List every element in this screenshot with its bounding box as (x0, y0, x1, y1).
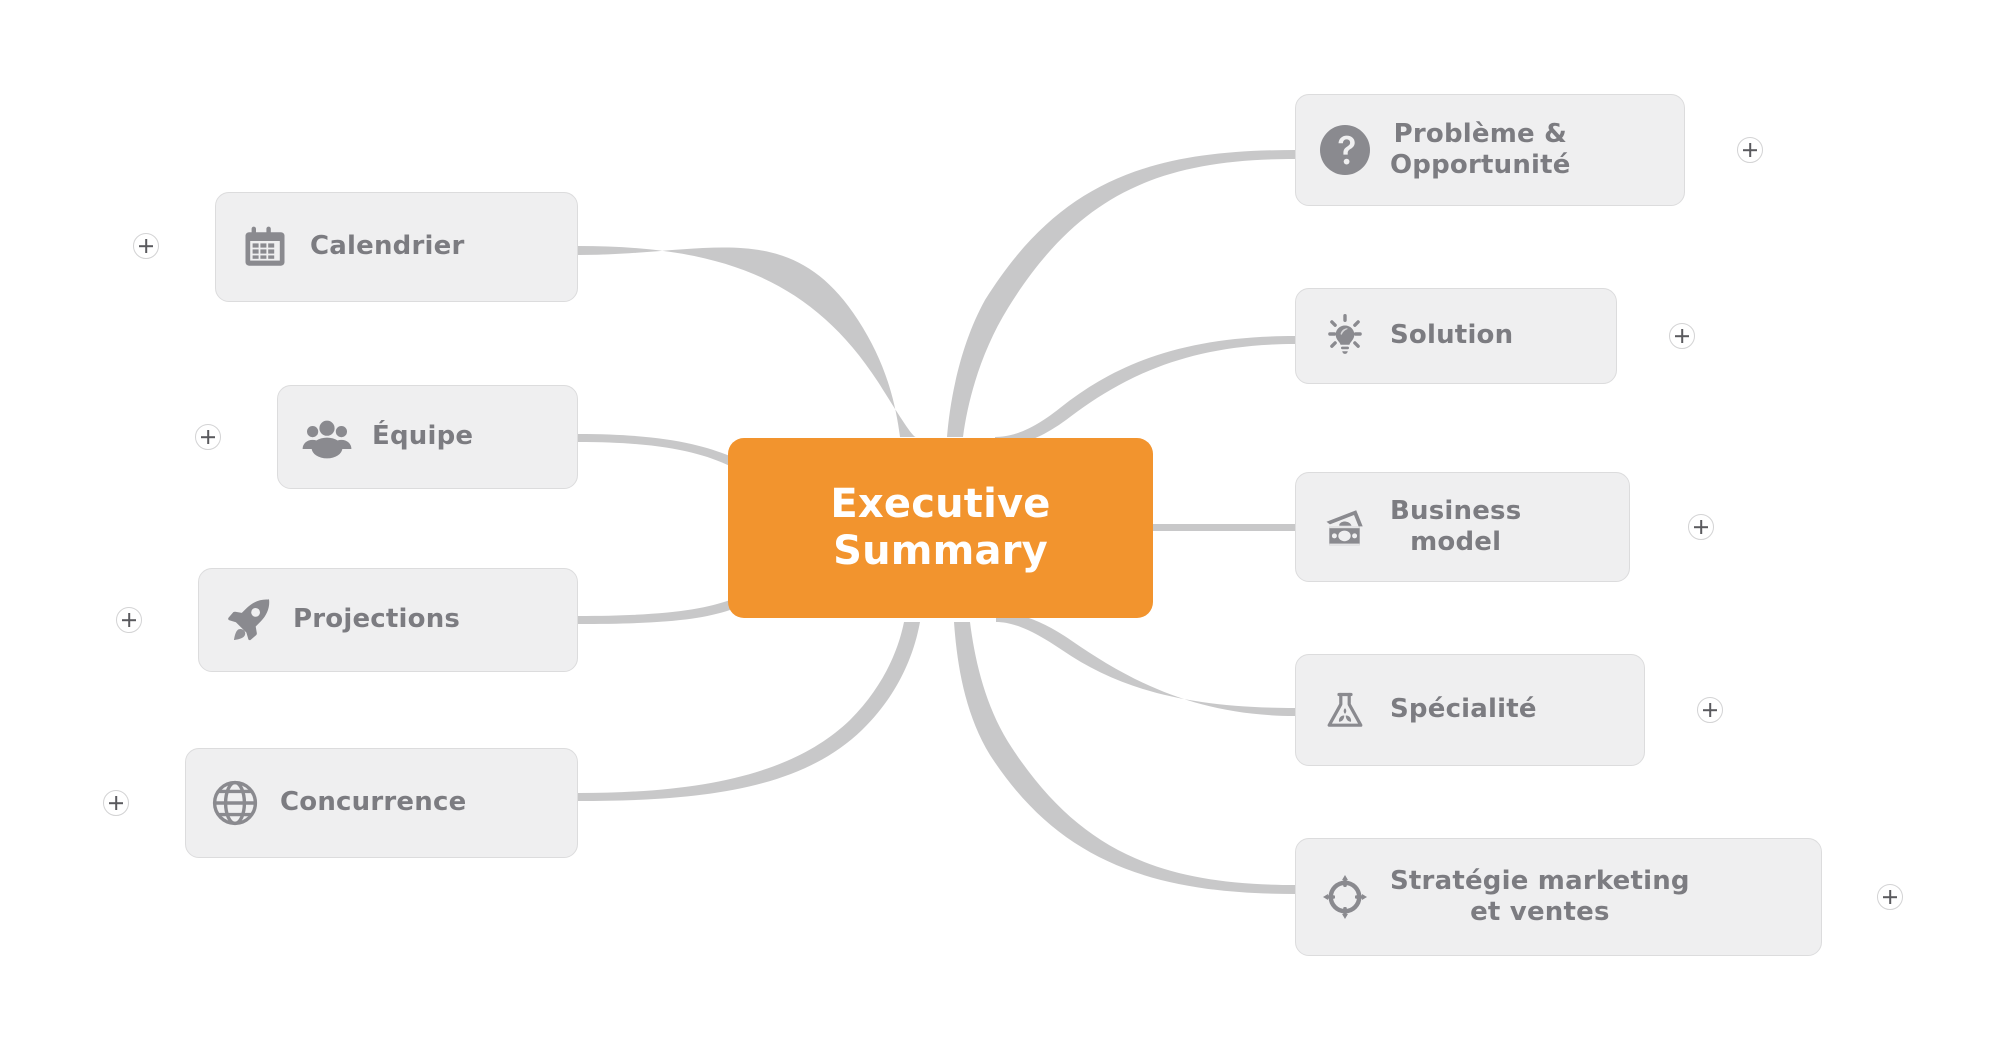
edge-concurrence (578, 622, 920, 801)
edge-specialite (996, 612, 1295, 716)
node-projections[interactable]: Projections (198, 568, 578, 672)
edge-calendrier (578, 246, 916, 437)
node-business-model-label: Business model (1390, 496, 1521, 558)
node-concurrence[interactable]: Concurrence (185, 748, 578, 858)
node-specialite-label: Spécialité (1390, 694, 1537, 725)
node-probleme-opportunite[interactable]: Problème & Opportunité (1295, 94, 1685, 206)
node-equipe[interactable]: Équipe (277, 385, 578, 489)
node-solution[interactable]: Solution (1295, 288, 1617, 384)
globe-icon (206, 774, 264, 832)
edge-projections (578, 600, 730, 624)
expander-business-model[interactable] (1688, 514, 1714, 540)
node-strategie-marketing[interactable]: Stratégie marketing et ventes (1295, 838, 1822, 956)
expander-calendrier[interactable] (133, 233, 159, 259)
node-strategie-marketing-label: Stratégie marketing et ventes (1390, 866, 1690, 928)
calendar-icon (236, 218, 294, 276)
expander-specialite[interactable] (1697, 697, 1723, 723)
node-calendrier[interactable]: Calendrier (215, 192, 578, 302)
node-business-model[interactable]: Business model (1295, 472, 1630, 582)
edge-strategie (954, 622, 1295, 894)
expander-probleme-opportunite[interactable] (1737, 137, 1763, 163)
edge-equipe (578, 434, 730, 466)
node-calendrier-label: Calendrier (310, 231, 464, 262)
rocket-icon (219, 591, 277, 649)
expander-concurrence[interactable] (103, 790, 129, 816)
central-node[interactable]: Executive Summary (728, 438, 1153, 618)
node-equipe-label: Équipe (372, 421, 473, 452)
edge-probleme (947, 150, 1295, 437)
banknotes-icon (1316, 498, 1374, 556)
lightbulb-icon (1316, 307, 1374, 365)
node-solution-label: Solution (1390, 320, 1513, 351)
mindmap-canvas: Executive Summary Problème & Opportunité (0, 0, 2000, 1051)
central-node-label: Executive Summary (830, 481, 1050, 575)
people-group-icon (298, 408, 356, 466)
node-probleme-opportunite-label: Problème & Opportunité (1390, 119, 1571, 181)
expander-projections[interactable] (116, 607, 142, 633)
question-mark-circle-icon (1316, 121, 1374, 179)
node-concurrence-label: Concurrence (280, 787, 466, 818)
expander-equipe[interactable] (195, 424, 221, 450)
edge-solution (995, 336, 1295, 447)
expander-strategie-marketing[interactable] (1877, 884, 1903, 910)
node-projections-label: Projections (293, 604, 460, 635)
flask-leaf-icon (1316, 681, 1374, 739)
expander-solution[interactable] (1669, 323, 1695, 349)
crosshair-target-icon (1316, 868, 1374, 926)
edge-business-model (1150, 524, 1295, 531)
node-specialite[interactable]: Spécialité (1295, 654, 1645, 766)
